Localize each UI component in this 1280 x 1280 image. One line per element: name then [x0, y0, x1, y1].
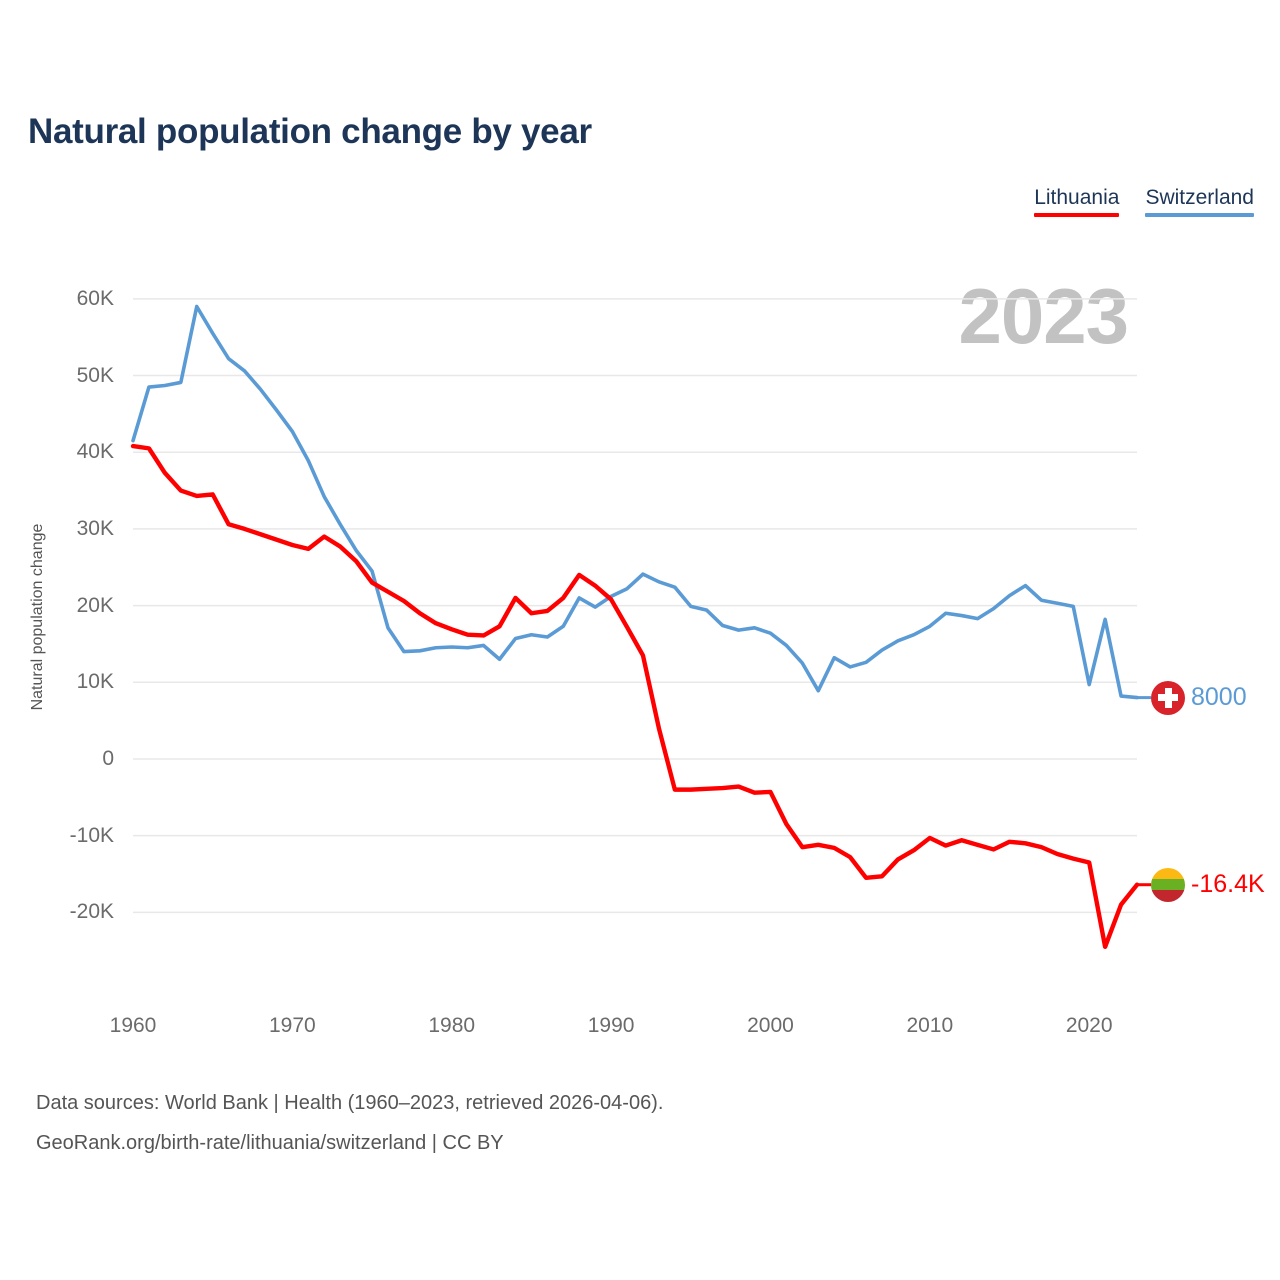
x-axis-tick-label: 2020: [1034, 1014, 1144, 1038]
y-axis-tick-label: -10K: [18, 824, 114, 848]
x-axis-tick-label: 1980: [397, 1014, 507, 1038]
footer-credits: Data sources: World Bank | Health (1960–…: [36, 1083, 663, 1163]
y-axis-tick-label: 50K: [18, 364, 114, 388]
footer-line-1: Data sources: World Bank | Health (1960–…: [36, 1083, 663, 1123]
y-axis-tick-label: 0: [18, 747, 114, 771]
x-axis-tick-label: 1960: [78, 1014, 188, 1038]
y-axis-tick-label: -20K: [18, 900, 114, 924]
end-value-lithuania: -16.4K: [1191, 870, 1265, 899]
y-axis-tick-label: 60K: [18, 287, 114, 311]
y-axis-label: Natural population change: [29, 507, 47, 727]
end-label-switzerland: 8000: [1151, 681, 1247, 715]
footer-line-2: GeoRank.org/birth-rate/lithuania/switzer…: [36, 1123, 663, 1163]
x-axis-tick-label: 2010: [875, 1014, 985, 1038]
x-axis-tick-label: 2000: [715, 1014, 825, 1038]
chart-page: Natural population change by year Lithua…: [0, 0, 1280, 1280]
x-axis-tick-label: 1990: [556, 1014, 666, 1038]
lithuania-flag-icon: [1151, 868, 1185, 902]
gridlines: [133, 299, 1137, 912]
end-label-lithuania: -16.4K: [1151, 868, 1265, 902]
y-axis-tick-label: 40K: [18, 440, 114, 464]
series-line-lithuania: [133, 446, 1137, 947]
end-value-switzerland: 8000: [1191, 683, 1247, 712]
switzerland-flag-icon: [1151, 681, 1185, 715]
x-axis-tick-label: 1970: [237, 1014, 347, 1038]
